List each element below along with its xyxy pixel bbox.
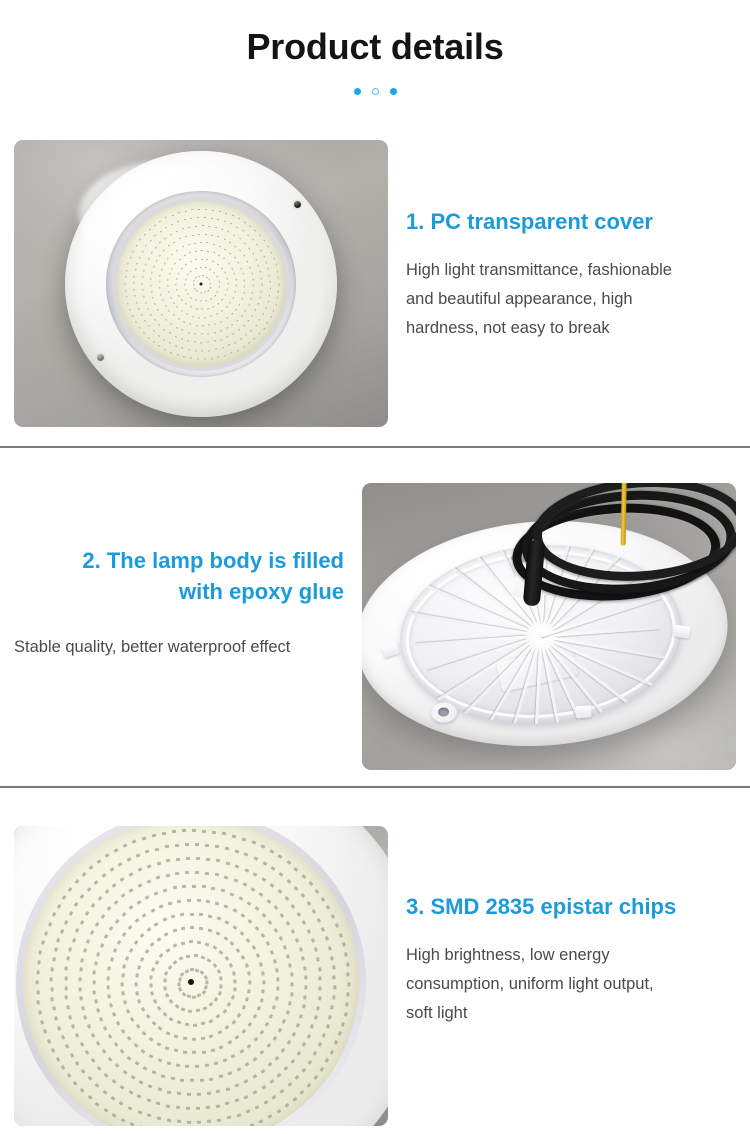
led-chip (112, 883, 117, 888)
led-chip (205, 299, 207, 301)
led-chip (110, 957, 114, 962)
led-chip (248, 1022, 253, 1027)
led-chip (165, 873, 170, 877)
led-chip (182, 228, 184, 230)
led-chip (128, 905, 133, 910)
led-chip (199, 927, 203, 930)
led-chip (195, 1009, 199, 1012)
led-chip (174, 335, 176, 337)
led-chip (240, 931, 245, 936)
led-chip (151, 834, 156, 838)
led-chip (164, 304, 166, 307)
led-chip (186, 1107, 190, 1110)
led-chip (276, 987, 279, 991)
led-chip (79, 968, 82, 972)
led-chip (254, 229, 256, 231)
led-chip (175, 844, 179, 847)
led-chip (44, 931, 48, 936)
led-chip (201, 1036, 205, 1039)
led-chip (277, 270, 279, 272)
led-chip (195, 251, 197, 253)
led-chip (156, 876, 161, 880)
led-chip (154, 922, 159, 926)
led-chip (263, 255, 265, 257)
led-chip (181, 338, 183, 340)
led-chip (96, 1008, 100, 1013)
led-chip (204, 358, 206, 359)
led-chip (64, 920, 68, 925)
led-chip (253, 857, 258, 861)
led-chip (146, 1099, 151, 1103)
led-chip (277, 290, 279, 292)
led-chip (229, 892, 234, 896)
led-chip (286, 1010, 290, 1015)
led-chip (200, 342, 202, 343)
led-chip (225, 920, 230, 924)
page-header: Product details (0, 0, 750, 118)
led-chip (149, 975, 152, 979)
led-chip (178, 212, 180, 214)
led-chip (326, 1024, 330, 1029)
led-chip (270, 950, 274, 955)
led-chip (166, 1119, 170, 1122)
led-chip (150, 313, 152, 316)
led-chip (251, 314, 253, 317)
led-chip (235, 308, 237, 311)
led-chip (145, 245, 147, 248)
lamp-back-view (362, 492, 736, 770)
led-chip (161, 1074, 166, 1078)
led-chip (135, 321, 137, 324)
led-chip (123, 844, 128, 848)
led-chip (169, 999, 174, 1004)
led-chip (280, 913, 285, 918)
led-chip (225, 1102, 230, 1106)
led-chip (65, 996, 68, 1000)
led-chip (142, 283, 143, 285)
led-chip (185, 843, 189, 846)
led-chip (219, 950, 224, 955)
led-chip (151, 967, 155, 972)
led-chip (91, 1033, 95, 1038)
lamp-front-view (65, 151, 337, 417)
led-chip (307, 1060, 312, 1065)
led-chip (193, 284, 195, 286)
led-chip (128, 1090, 133, 1094)
led-chip (114, 848, 119, 852)
led-chip (134, 940, 139, 945)
led-chip (208, 226, 210, 228)
led-chip (206, 259, 208, 261)
led-chip (225, 306, 227, 308)
led-chip (50, 977, 53, 981)
page-title: Product details (0, 26, 750, 68)
led-chip (154, 224, 157, 226)
led-chip (144, 319, 146, 322)
led-chip (36, 980, 39, 984)
led-chip (164, 971, 168, 976)
led-chip (157, 334, 159, 336)
led-chip (147, 336, 149, 338)
led-chip (158, 324, 160, 326)
led-chip (223, 936, 228, 941)
led-chip (126, 1009, 130, 1014)
pager-dot-3[interactable] (390, 88, 397, 95)
led-chip (346, 1002, 349, 1006)
led-chip (181, 310, 184, 312)
led-chip (242, 230, 245, 232)
led-chip (272, 310, 274, 312)
led-chip (178, 977, 182, 982)
led-chip (141, 314, 143, 316)
led-chip (73, 1081, 78, 1086)
led-chip (205, 234, 207, 236)
led-chip (194, 333, 196, 335)
section-divider (0, 446, 750, 448)
led-chip (174, 1004, 179, 1009)
led-chip (193, 1024, 197, 1027)
led-chip (87, 1024, 91, 1029)
led-chip (199, 913, 203, 916)
led-chip (197, 358, 199, 360)
led-chip (275, 264, 277, 266)
led-chip (163, 986, 166, 990)
led-chip (258, 319, 260, 322)
led-chip (330, 956, 333, 960)
led-chip (243, 255, 245, 258)
led-chip (252, 291, 254, 293)
led-chip (170, 323, 173, 325)
led-chip (237, 329, 240, 331)
led-chip (217, 236, 219, 238)
led-chip (204, 1064, 208, 1067)
led-chip (260, 1069, 265, 1074)
led-chip (262, 989, 265, 993)
led-chip (207, 958, 212, 963)
led-chip (164, 349, 167, 351)
led-chip (232, 909, 237, 913)
led-chip (212, 209, 214, 211)
led-chip (149, 1037, 154, 1042)
led-chip (231, 995, 235, 1000)
led-chip (270, 251, 272, 253)
led-chip (270, 316, 272, 318)
led-chip (247, 972, 250, 976)
led-chip (188, 227, 190, 229)
led-chip (181, 1007, 186, 1011)
led-chip (145, 263, 147, 265)
led-chip (249, 225, 252, 227)
section-divider (0, 786, 750, 788)
led-chip (220, 984, 223, 988)
led-chip (96, 1041, 101, 1046)
led-chip (108, 1034, 113, 1039)
led-chip (277, 1073, 282, 1078)
led-chip (244, 309, 246, 312)
led-chip (227, 1041, 232, 1045)
led-chip (213, 294, 215, 296)
led-chip (234, 256, 236, 258)
led-chip (214, 997, 219, 1002)
led-chip (159, 953, 164, 958)
led-chip (186, 954, 190, 957)
led-chip (210, 1048, 215, 1052)
led-chip (150, 942, 155, 947)
led-chip (162, 1012, 167, 1017)
led-chip (252, 279, 254, 281)
led-chip (221, 267, 223, 270)
led-chip (302, 920, 306, 925)
led-chip (149, 1054, 154, 1058)
led-chip (187, 1093, 191, 1096)
product-photo-front-cover (14, 140, 388, 427)
led-chip (37, 1000, 40, 1004)
led-chip (218, 255, 221, 257)
led-chip (194, 268, 196, 270)
led-chip (184, 283, 185, 285)
led-chip (291, 929, 295, 934)
led-chip (226, 336, 228, 338)
led-chip (314, 1015, 318, 1020)
led-chip (153, 265, 155, 267)
led-chip (235, 279, 237, 281)
led-chip (216, 290, 218, 292)
led-chip (100, 943, 104, 948)
led-chip (248, 919, 253, 924)
led-chip (189, 261, 191, 263)
led-chip (198, 234, 200, 236)
led-chip (57, 1026, 61, 1031)
led-chip (205, 267, 207, 269)
led-chip (347, 992, 350, 996)
led-chip (260, 845, 265, 849)
led-chip (159, 220, 162, 222)
section-2-text: 2. The lamp body is filled with epoxy gl… (14, 545, 344, 663)
led-chip (216, 859, 220, 863)
led-chip (212, 261, 214, 263)
led-chip (275, 303, 277, 305)
led-chip (175, 326, 178, 328)
led-chip (51, 1048, 55, 1053)
led-chip (217, 356, 219, 358)
led-chip (166, 859, 170, 863)
led-chip (176, 1021, 181, 1025)
led-chip (150, 284, 151, 286)
led-chip (157, 308, 159, 311)
led-chip (135, 1061, 140, 1066)
led-chip (104, 934, 108, 939)
led-chip (291, 982, 294, 986)
led-chip (195, 325, 197, 327)
panel-center-dot (188, 979, 194, 985)
led-chip (80, 894, 85, 899)
led-chip (255, 258, 257, 260)
carousel-pager[interactable] (0, 88, 750, 95)
led-chip (165, 318, 167, 320)
led-chip (294, 886, 299, 891)
led-chip (192, 1038, 196, 1041)
led-chip (171, 224, 173, 226)
led-chip (242, 837, 247, 841)
led-chip (140, 957, 144, 962)
led-chip (135, 982, 138, 986)
led-chip (204, 316, 206, 318)
led-chip (206, 1092, 210, 1095)
led-chip (47, 922, 51, 927)
led-chip (136, 900, 141, 905)
led-chip (161, 314, 163, 317)
led-chip (180, 941, 185, 945)
led-chip (248, 247, 250, 250)
led-chip (173, 241, 176, 243)
led-chip (256, 953, 260, 958)
led-chip (170, 234, 173, 236)
led-chip (225, 956, 230, 961)
led-chip (211, 886, 215, 890)
led-chip (288, 1082, 293, 1087)
led-chip (118, 862, 123, 866)
led-chip (251, 272, 253, 274)
led-chip (102, 1090, 107, 1095)
led-chip (312, 909, 316, 914)
led-chip (246, 1109, 251, 1113)
led-chip (133, 289, 135, 291)
led-chip (68, 887, 73, 892)
led-chip (185, 303, 188, 305)
led-chip (179, 956, 184, 960)
led-chip (176, 306, 178, 308)
led-chip (147, 1114, 152, 1118)
led-chip (170, 1077, 174, 1081)
led-chip (140, 933, 145, 938)
led-chip (178, 987, 182, 992)
led-chip (235, 1084, 240, 1088)
led-chip (235, 285, 236, 287)
led-chip (238, 303, 240, 306)
led-chip (299, 1014, 303, 1019)
led-chip (85, 911, 90, 916)
led-chip (209, 269, 212, 271)
led-chip (297, 1051, 302, 1056)
led-chip (218, 280, 220, 282)
led-chip (181, 347, 183, 349)
led-chip (242, 882, 247, 886)
led-chip (99, 1017, 103, 1022)
led-chip (219, 1045, 224, 1049)
led-chip (242, 1029, 247, 1034)
led-chip (178, 318, 181, 320)
led-chip (160, 293, 162, 295)
led-chip (190, 926, 194, 929)
led-chip (83, 948, 87, 953)
led-chip (248, 980, 251, 984)
led-chip (187, 331, 189, 333)
led-chip (261, 1085, 266, 1090)
led-chip (242, 273, 244, 275)
led-chip (103, 1108, 108, 1113)
led-chip (300, 893, 305, 898)
led-chip (214, 340, 216, 342)
led-chip (142, 1031, 147, 1036)
led-chip (206, 980, 209, 984)
led-chip (165, 992, 169, 997)
led-chip (319, 986, 322, 990)
led-chip (220, 329, 222, 331)
led-chip (181, 329, 183, 331)
led-chip (54, 1016, 58, 1021)
led-chip (100, 914, 105, 919)
led-chip (233, 234, 236, 236)
led-chip (135, 918, 140, 923)
led-chip (159, 230, 162, 232)
led-chip (291, 904, 296, 909)
led-chip (39, 950, 43, 954)
led-chip (339, 933, 343, 938)
section-1-heading: 1. PC transparent cover (406, 208, 736, 237)
led-chip (283, 945, 287, 950)
led-chip (194, 341, 196, 343)
led-chip (190, 357, 192, 359)
led-chip (320, 1067, 325, 1072)
led-chip (182, 885, 186, 888)
led-chip (56, 938, 60, 943)
led-chip (243, 242, 245, 244)
led-chip (236, 319, 238, 321)
led-chip (236, 226, 239, 228)
led-chip (107, 906, 112, 911)
led-chip (228, 1072, 233, 1076)
led-chip (261, 284, 262, 286)
led-chip (282, 1019, 286, 1024)
led-chip (254, 926, 259, 931)
led-chip (328, 946, 332, 951)
led-chip (81, 872, 86, 877)
led-chip (78, 977, 81, 981)
led-chip (200, 300, 202, 302)
led-chip (194, 954, 198, 957)
led-chip (110, 1096, 115, 1101)
led-chip (69, 911, 73, 916)
led-chip (180, 913, 184, 916)
led-chip (261, 913, 266, 918)
led-chip (38, 1010, 42, 1014)
led-chip (69, 947, 73, 952)
led-chip (47, 1039, 51, 1044)
led-chip (83, 1015, 87, 1020)
led-chip (74, 879, 79, 884)
led-chip (335, 923, 339, 928)
led-chip (338, 1031, 342, 1036)
section-3-body-line-1: High brightness, low energy (406, 941, 736, 970)
led-chip (232, 971, 236, 976)
led-chip (278, 1028, 282, 1033)
led-chip (285, 1103, 290, 1108)
led-chip (215, 931, 220, 935)
led-chip (172, 886, 176, 889)
led-chip (170, 352, 172, 354)
pager-dot-1[interactable] (354, 88, 361, 95)
pager-dot-2[interactable] (372, 88, 379, 95)
led-chip (299, 947, 303, 952)
led-chip (233, 273, 235, 275)
led-chip (234, 245, 236, 247)
led-chip (125, 289, 127, 291)
led-chip (232, 925, 237, 930)
led-chip (233, 987, 236, 991)
led-chip (142, 250, 144, 253)
led-chip (158, 1027, 163, 1032)
led-chip (248, 342, 251, 344)
